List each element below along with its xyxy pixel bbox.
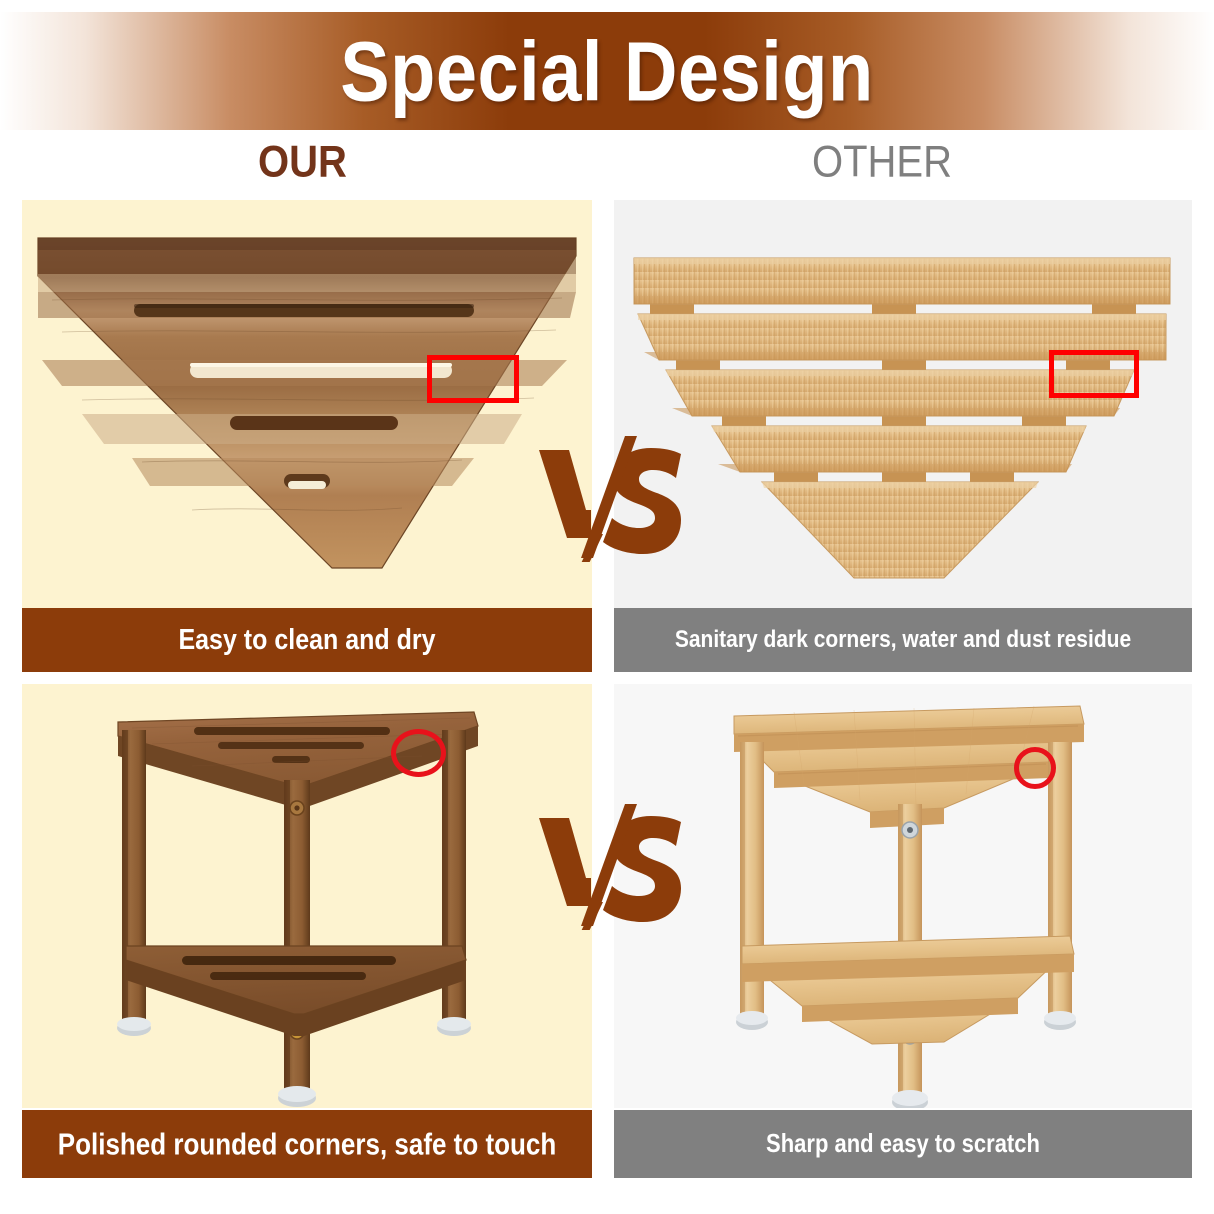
caption-our-row1: Easy to clean and dry <box>22 608 592 672</box>
infographic-page: Special Design OUR OTHER <box>0 0 1214 1214</box>
panel-our-stool <box>22 684 592 1108</box>
caption-other-row1: Sanitary dark corners, water and dust re… <box>614 608 1192 672</box>
caption-other-row2: Sharp and easy to scratch <box>614 1110 1192 1178</box>
caption-our-row2-text: Polished rounded corners, safe to touch <box>58 1126 556 1162</box>
caption-other-row1-text: Sanitary dark corners, water and dust re… <box>675 626 1131 654</box>
highlight-rectangle-other-board <box>1049 350 1139 398</box>
acacia-board-image <box>22 200 592 608</box>
highlight-circle-our-stool <box>391 729 446 777</box>
page-title: Special Design <box>340 23 873 120</box>
caption-our-row1-text: Easy to clean and dry <box>178 623 435 657</box>
highlight-circle-other-stool <box>1014 747 1056 789</box>
panel-other-stool <box>614 684 1192 1108</box>
bamboo-board-image <box>614 200 1192 608</box>
bamboo-stool-image <box>614 684 1192 1108</box>
caption-other-row2-text: Sharp and easy to scratch <box>766 1129 1040 1159</box>
header-banner: Special Design <box>0 12 1214 130</box>
caption-our-row2: Polished rounded corners, safe to touch <box>22 1110 592 1178</box>
acacia-stool-image <box>22 684 592 1108</box>
panel-other-board <box>614 200 1192 608</box>
highlight-rectangle-our-board <box>427 355 519 403</box>
panel-our-board <box>22 200 592 608</box>
column-heading-other: OTHER <box>812 137 952 187</box>
column-heading-our: OUR <box>258 137 347 187</box>
column-headings: OUR OTHER <box>0 140 1214 196</box>
